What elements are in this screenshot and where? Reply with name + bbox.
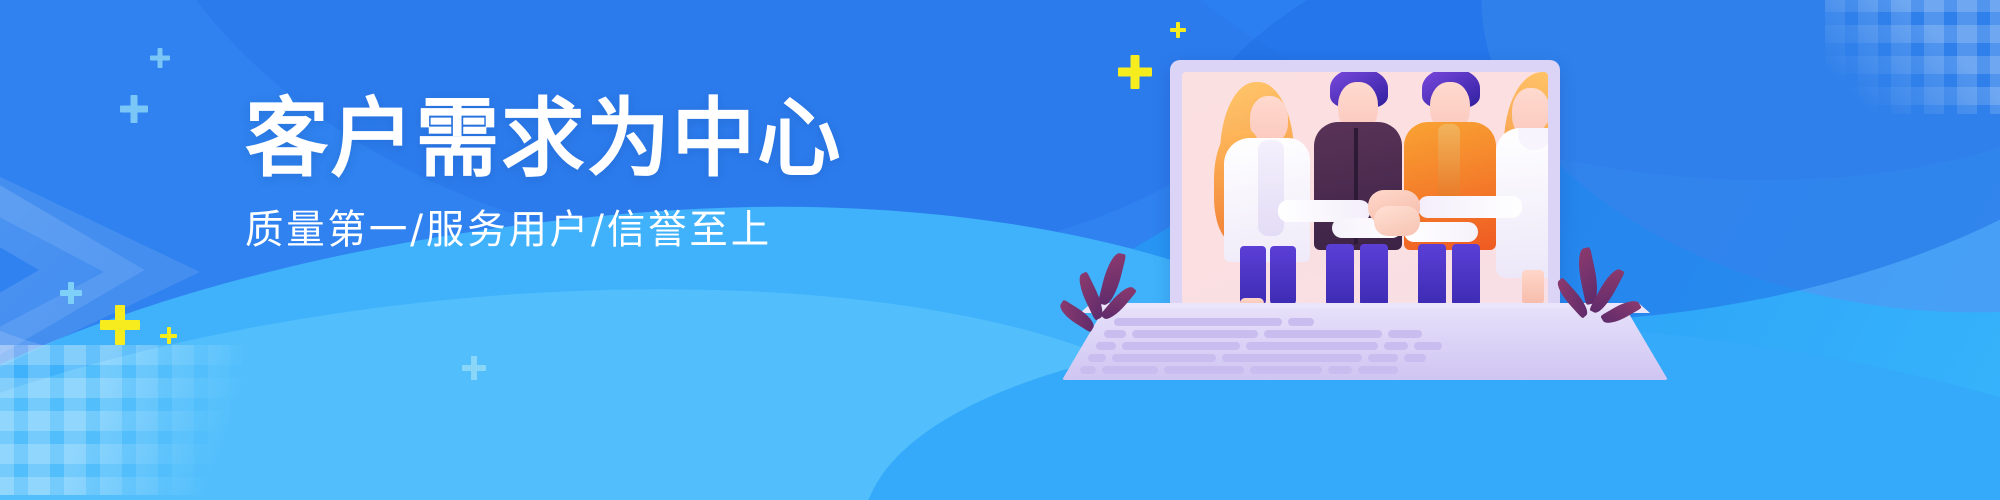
keyboard-row-2 (1104, 330, 1626, 338)
keyboard-key (1246, 342, 1378, 350)
keyboard-key (1250, 366, 1322, 374)
joined-hand-upper (1374, 206, 1420, 236)
keyboard-key (1288, 318, 1314, 326)
sparkle-yellow-large-bottom-icon (100, 305, 140, 345)
laptop-lid (1170, 60, 1560, 312)
keyboard-key (1328, 366, 1352, 374)
sparkle-cyan-bottom-left-icon (60, 282, 82, 304)
keyboard-key (1088, 354, 1106, 362)
promo-banner: 客户需求为中心 质量第一/服务用户/信誉至上 (0, 0, 2000, 500)
leaf-sprig-right (1560, 252, 1630, 328)
keyboard-row-1 (1114, 318, 1616, 326)
arm-right-inner (1418, 196, 1522, 218)
sparkle-yellow-small-bottom-icon (160, 327, 177, 344)
keyboard-row-3 (1096, 342, 1634, 350)
trouser-right-man-right (1452, 244, 1480, 306)
leaf-sprig-left (1078, 256, 1148, 328)
trouser-right-woman (1270, 246, 1296, 306)
keyboard-key (1404, 354, 1426, 362)
sparkle-cyan-bottom-mid-icon (462, 356, 486, 380)
banner-headline: 客户需求为中心 (245, 96, 846, 182)
keyboard-key (1388, 330, 1422, 338)
trouser-right-man-left (1360, 244, 1388, 306)
sparkle-cyan-mid-left-icon (120, 95, 148, 123)
sparkle-yellow-small-top-icon (1170, 22, 1186, 38)
sparkle-cyan-upper-left-icon (150, 48, 170, 68)
laptop-screen (1182, 72, 1548, 306)
keyboard-key (1264, 330, 1382, 338)
keyboard-key (1104, 330, 1126, 338)
leg-woman-right (1522, 270, 1544, 304)
laptop-illustration (1150, 60, 1580, 360)
person-woman-right (1482, 72, 1548, 306)
trouser-left-woman (1240, 246, 1266, 306)
chevron-left-shape (0, 150, 270, 390)
sparkle-yellow-large-top-icon (1118, 55, 1152, 89)
keyboard-row-4 (1088, 354, 1642, 362)
keyboard-key (1122, 342, 1240, 350)
dot-grid-top-right (1825, 0, 2000, 114)
banner-text-block: 客户需求为中心 质量第一/服务用户/信誉至上 (245, 96, 865, 250)
keyboard-key (1384, 342, 1408, 350)
keyboard-key (1222, 354, 1362, 362)
keyboard-key (1102, 366, 1158, 374)
keyboard-key (1414, 342, 1442, 350)
banner-subtitle: 质量第一/服务用户/信誉至上 (245, 210, 840, 250)
keyboard-key (1368, 354, 1398, 362)
keyboard-key (1164, 366, 1244, 374)
keyboard-key (1132, 330, 1258, 338)
keyboard-key (1358, 366, 1398, 374)
trouser-left-man-left (1326, 244, 1354, 306)
keyboard-key (1096, 342, 1116, 350)
trouser-left-man-right (1418, 244, 1446, 306)
blazer-lapel-left (1258, 140, 1284, 236)
dot-grid-bottom-left (0, 345, 242, 495)
keyboard-key (1112, 354, 1216, 362)
keyboard-row-5 (1080, 366, 1650, 374)
keyboard-key (1080, 366, 1096, 374)
